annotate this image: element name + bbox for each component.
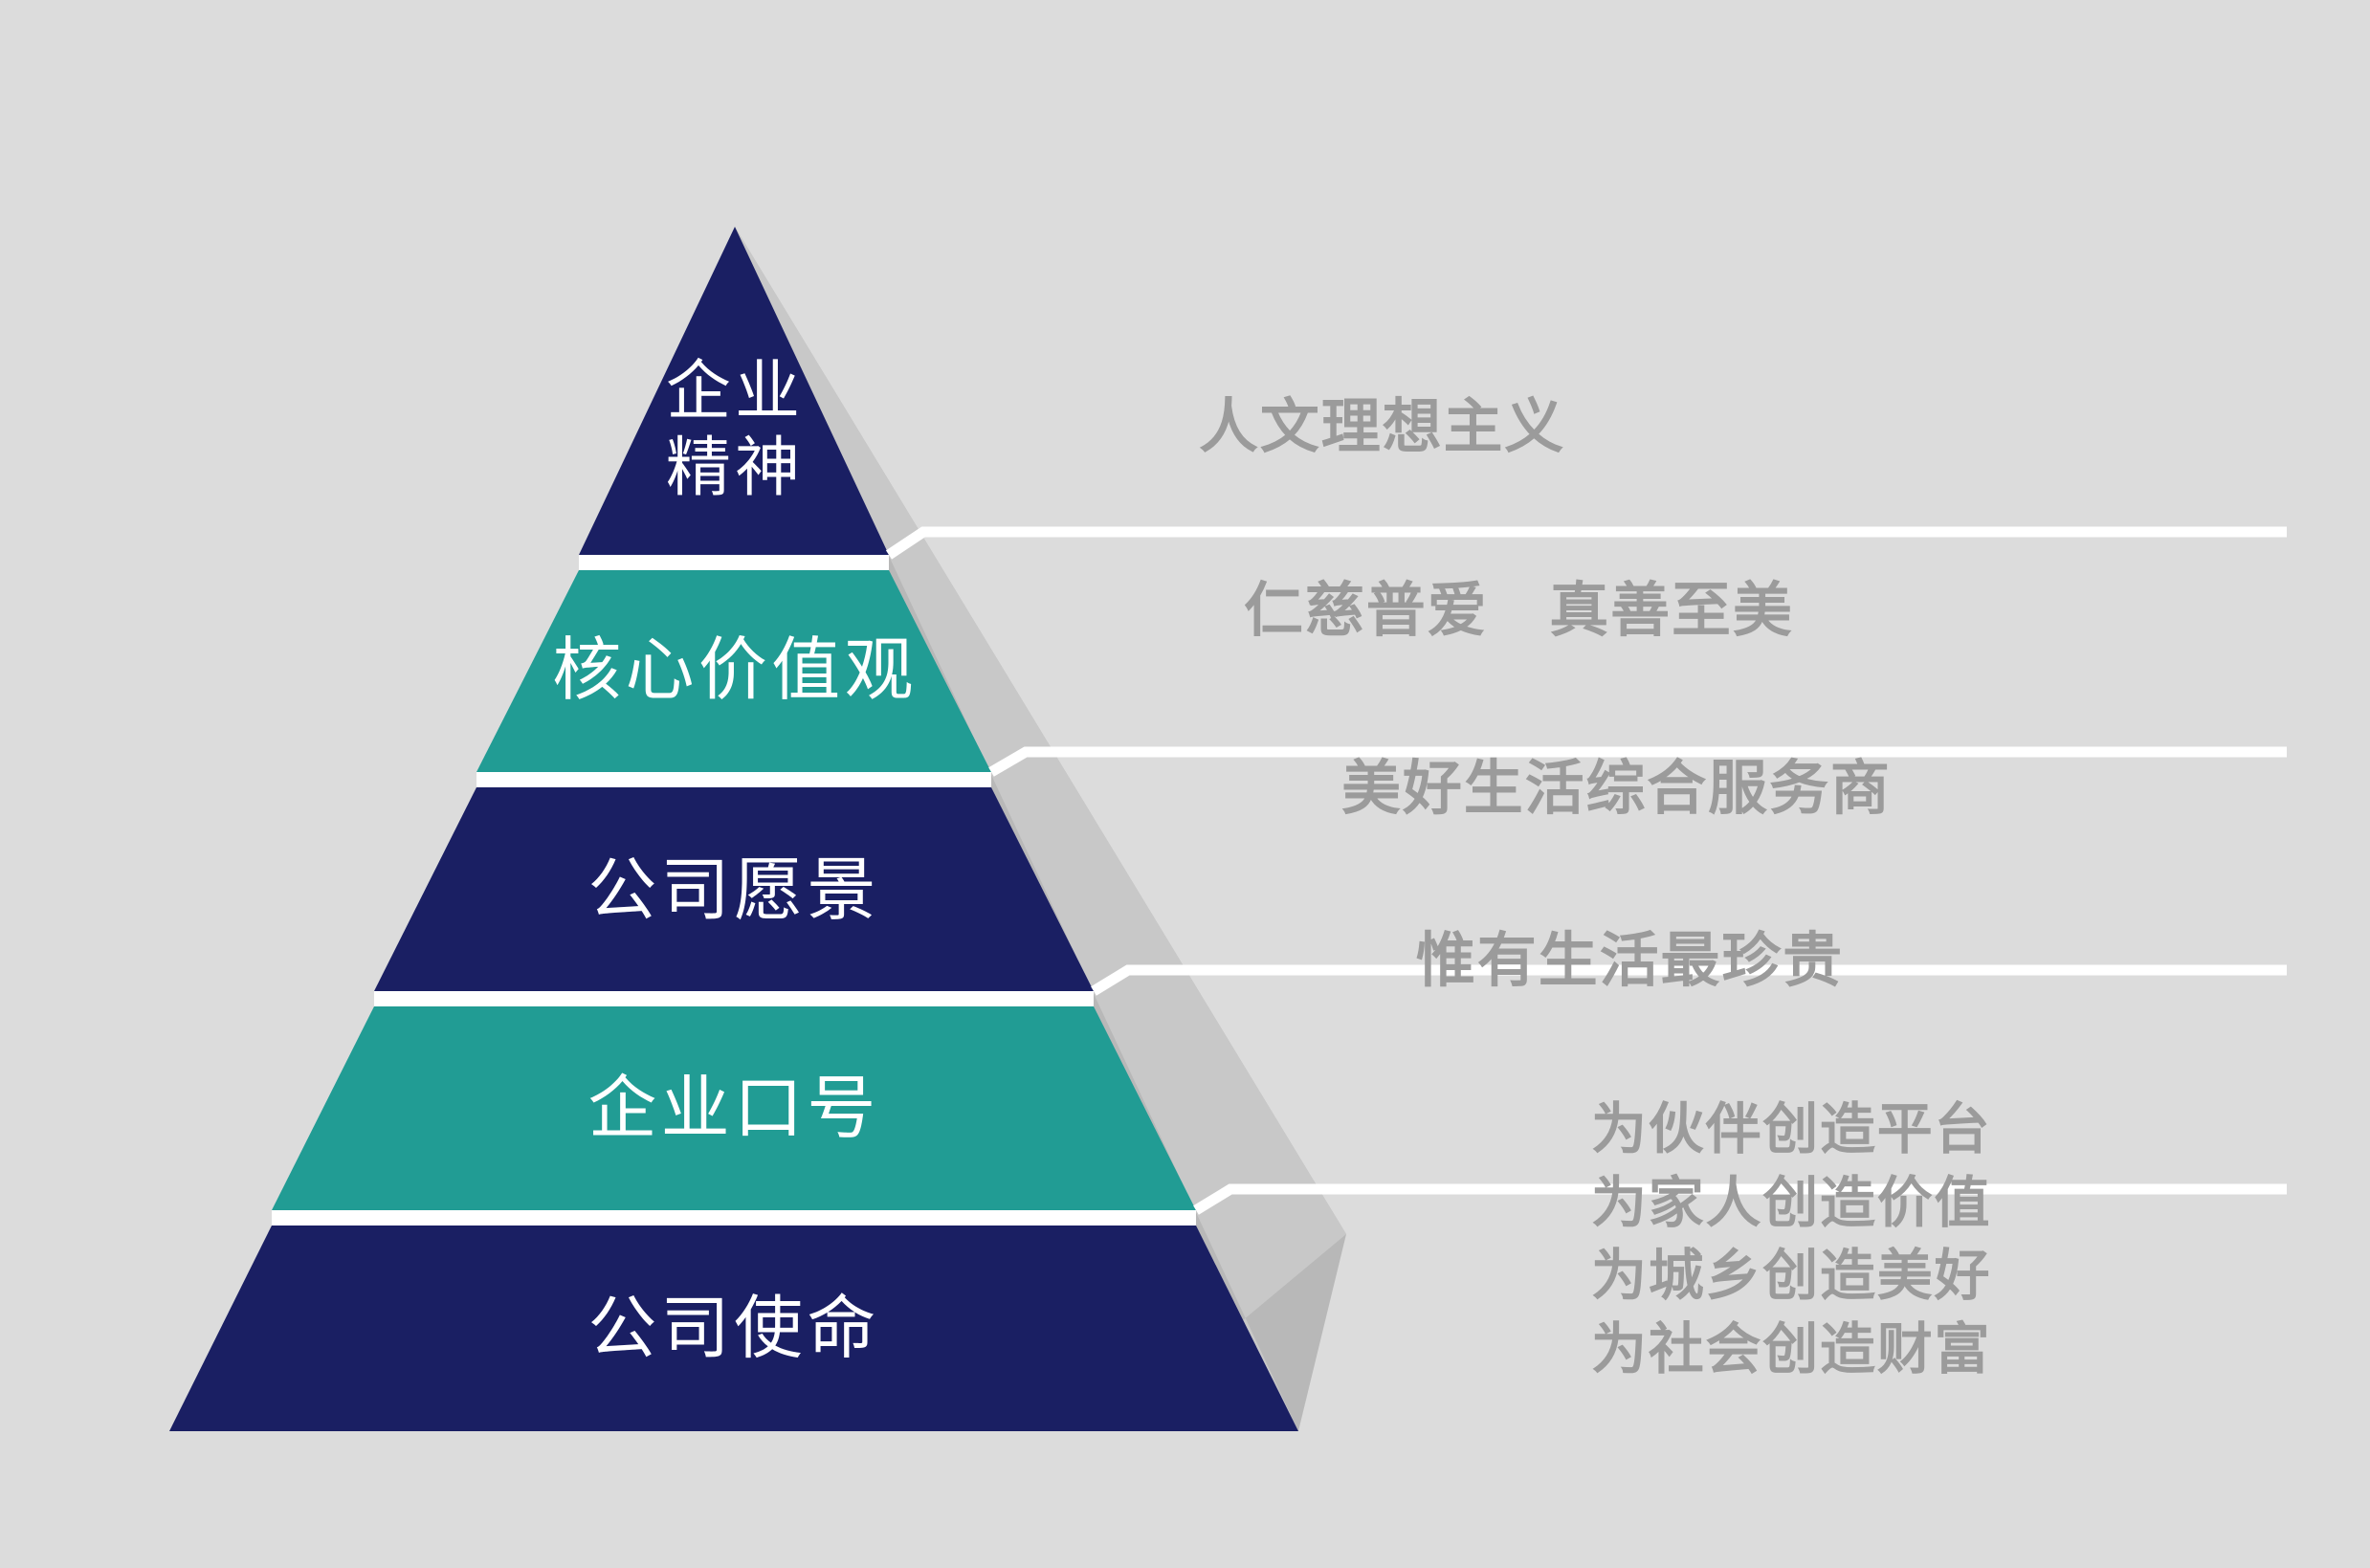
- pyramid-tier-1-description: 人文理想主义: [1199, 386, 1565, 466]
- pyramid-tier-3-shape[interactable]: [374, 787, 1094, 991]
- pyramid-diagram-canvas: 企业 精神 核心价值观 公司愿景 企业口号 公司使命 人文理想主义 仁慈普爱 真…: [0, 0, 2370, 1568]
- pyramid-tier-2-description: 仁慈普爱 真善至美: [1244, 570, 1794, 650]
- pyramid-tier-1-shape[interactable]: [579, 227, 889, 555]
- pyramid-tier-4-shape[interactable]: [272, 1006, 1196, 1210]
- pyramid-tier-5-description: 为伙伴创造平台 为家人创造价值 为城乡创造美好 为社会创造财富: [1591, 1093, 1991, 1385]
- pyramid-tier-3-description: 美好生活综合服务商: [1341, 748, 1892, 828]
- pyramid-graphic: [0, 0, 2370, 1568]
- pyramid-tier-4-description: 惟有生活最珍贵: [1416, 920, 1844, 1000]
- connector-line-1: [889, 532, 2287, 555]
- pyramid-tier-5-shape[interactable]: [169, 1226, 1298, 1431]
